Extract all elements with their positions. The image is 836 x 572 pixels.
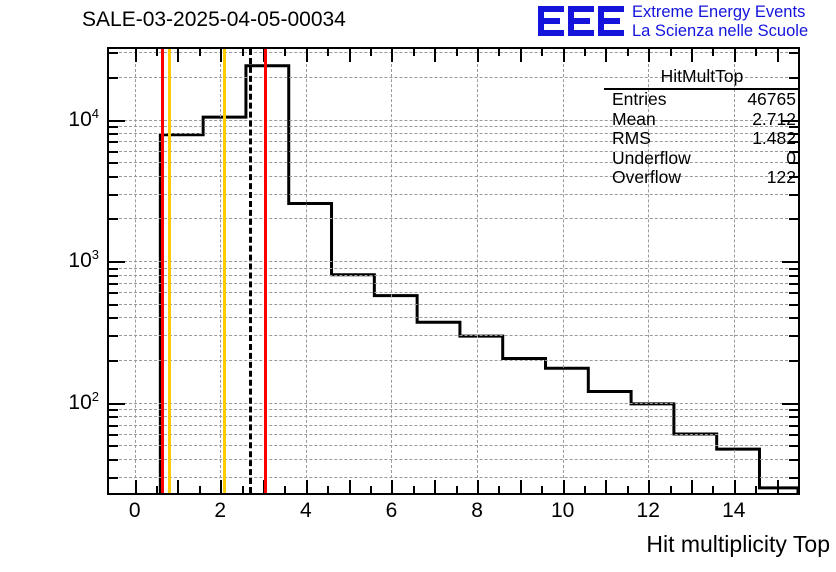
stats-row: Overflow122 — [604, 168, 800, 188]
x-tick-label: 12 — [637, 499, 660, 523]
axis-tick — [789, 416, 798, 418]
axis-tick — [109, 141, 118, 143]
axis-tick — [789, 52, 798, 54]
axis-tick — [156, 49, 158, 56]
gridline-horizontal — [109, 194, 798, 195]
gridline-vertical — [135, 49, 136, 493]
axis-tick — [135, 49, 137, 62]
axis-tick — [109, 162, 118, 164]
axis-tick — [109, 77, 118, 79]
axis-tick — [789, 218, 798, 220]
stats-key: Entries — [612, 90, 666, 110]
axis-tick — [789, 268, 798, 270]
axis-tick — [648, 480, 650, 493]
stats-row: Underflow0 — [604, 149, 800, 169]
axis-tick — [789, 292, 798, 294]
axis-tick — [456, 49, 458, 56]
x-axis-title: Hit multiplicity Top — [646, 531, 830, 558]
axis-tick — [782, 403, 798, 405]
gridline-vertical — [477, 49, 478, 493]
axis-tick — [199, 49, 201, 56]
axis-tick — [789, 194, 798, 196]
axis-tick — [177, 49, 179, 62]
stats-value: 0 — [786, 149, 796, 169]
axis-tick — [199, 486, 201, 493]
gridline-horizontal — [109, 317, 798, 318]
axis-tick — [391, 49, 393, 62]
orange-marker-right — [223, 49, 226, 493]
axis-tick — [789, 477, 798, 479]
axis-tick — [712, 49, 714, 56]
axis-tick — [109, 52, 118, 54]
axis-tick — [306, 49, 308, 62]
axis-tick — [109, 335, 118, 337]
axis-tick — [327, 486, 329, 493]
axis-tick — [109, 304, 118, 306]
gridline-horizontal — [109, 283, 798, 284]
axis-tick — [434, 480, 436, 493]
axis-tick — [520, 49, 522, 62]
axis-tick — [109, 445, 118, 447]
axis-tick — [755, 49, 757, 56]
axis-tick — [109, 218, 118, 220]
axis-tick — [284, 486, 286, 493]
axis-tick — [109, 268, 118, 270]
gridline-horizontal — [109, 434, 798, 435]
axis-tick — [284, 49, 286, 56]
gridline-horizontal — [109, 403, 798, 404]
x-tick-label: 0 — [129, 499, 141, 523]
axis-tick — [109, 409, 118, 411]
x-tick-label: 10 — [551, 499, 574, 523]
axis-tick — [327, 49, 329, 56]
axis-tick — [712, 486, 714, 493]
axis-tick — [520, 480, 522, 493]
axis-tick — [477, 480, 479, 493]
gridline-horizontal — [109, 409, 798, 410]
gridline-horizontal — [109, 477, 798, 478]
axis-tick — [789, 360, 798, 362]
y-tick-label: 103 — [68, 247, 99, 273]
axis-tick — [777, 49, 779, 62]
gridline-vertical — [306, 49, 307, 493]
stats-title: HitMultTop — [604, 66, 800, 90]
axis-tick — [109, 133, 118, 135]
axis-tick — [541, 49, 543, 56]
axis-tick — [477, 49, 479, 62]
axis-tick — [498, 49, 500, 56]
axis-tick — [789, 275, 798, 277]
stats-value: 122 — [767, 168, 796, 188]
axis-tick — [605, 480, 607, 493]
page-title: SALE-03-2025-04-05-00034 — [82, 8, 346, 32]
axis-tick — [109, 194, 118, 196]
red-marker-right — [264, 49, 267, 493]
gridline-horizontal — [109, 304, 798, 305]
axis-tick — [584, 49, 586, 56]
axis-tick — [734, 49, 736, 62]
axis-tick — [349, 480, 351, 493]
axis-tick — [584, 486, 586, 493]
gridline-vertical — [391, 49, 392, 493]
orange-marker-left — [168, 49, 171, 493]
gridline-horizontal — [109, 275, 798, 276]
gridline-horizontal — [109, 52, 798, 53]
axis-tick — [242, 486, 244, 493]
axis-tick — [109, 434, 118, 436]
axis-tick — [563, 49, 565, 62]
gridline-horizontal — [109, 445, 798, 446]
axis-tick — [109, 151, 118, 153]
red-marker-left — [161, 49, 164, 493]
axis-tick — [349, 49, 351, 62]
axis-tick — [413, 49, 415, 56]
axis-tick — [370, 486, 372, 493]
stats-key: RMS — [612, 129, 651, 149]
axis-tick — [306, 480, 308, 493]
axis-tick — [109, 261, 125, 263]
axis-tick — [734, 480, 736, 493]
y-tick-label: 104 — [68, 106, 99, 132]
axis-tick — [109, 176, 118, 178]
x-tick-label: 8 — [471, 499, 483, 523]
x-tick-label: 2 — [214, 499, 226, 523]
axis-tick — [563, 480, 565, 493]
gridline-vertical — [220, 49, 221, 493]
stats-row: RMS1.482 — [604, 129, 800, 149]
axis-tick — [670, 486, 672, 493]
axis-tick — [691, 49, 693, 62]
axis-tick — [109, 416, 118, 418]
stats-box: HitMultTop Entries46765Mean2.712RMS1.482… — [604, 66, 800, 188]
axis-tick — [109, 275, 118, 277]
axis-tick — [789, 459, 798, 461]
axis-tick — [782, 261, 798, 263]
axis-tick — [242, 49, 244, 56]
gridline-horizontal — [109, 268, 798, 269]
axis-tick — [789, 409, 798, 411]
axis-tick — [789, 425, 798, 427]
stats-row: Entries46765 — [604, 90, 800, 110]
stats-value: 2.712 — [752, 110, 796, 130]
axis-tick — [627, 49, 629, 56]
x-tick-label: 14 — [722, 499, 745, 523]
gridline-horizontal — [109, 261, 798, 262]
axis-tick — [789, 304, 798, 306]
axis-tick — [789, 283, 798, 285]
axis-tick — [648, 49, 650, 62]
axis-tick — [370, 49, 372, 56]
axis-tick — [109, 459, 118, 461]
axis-tick — [627, 486, 629, 493]
stats-value: 46765 — [747, 90, 796, 110]
stats-value: 1.482 — [752, 129, 796, 149]
axis-tick — [691, 480, 693, 493]
axis-tick — [109, 292, 118, 294]
axis-tick — [177, 480, 179, 493]
axis-tick — [789, 434, 798, 436]
axis-tick — [777, 480, 779, 493]
axis-tick — [456, 486, 458, 493]
axis-tick — [135, 480, 137, 493]
mean-marker — [249, 49, 252, 493]
gridline-horizontal — [109, 416, 798, 417]
axis-tick — [109, 403, 125, 405]
axis-tick — [789, 335, 798, 337]
eee-logo: Extreme Energy Events La Scienza nelle S… — [536, 2, 836, 44]
axis-tick — [498, 486, 500, 493]
axis-tick — [156, 486, 158, 493]
gridline-horizontal — [109, 335, 798, 336]
x-tick-label: 4 — [300, 499, 312, 523]
axis-tick — [605, 49, 607, 62]
axis-tick — [109, 283, 118, 285]
gridline-horizontal — [109, 459, 798, 460]
axis-tick — [789, 317, 798, 319]
axis-tick — [109, 360, 118, 362]
y-tick-label: 102 — [68, 389, 99, 415]
stats-key: Mean — [612, 110, 656, 130]
stats-row: Mean2.712 — [604, 110, 800, 130]
gridline-horizontal — [109, 425, 798, 426]
gridline-horizontal — [109, 292, 798, 293]
eee-logo-text: Extreme Energy Events La Scienza nelle S… — [632, 3, 808, 41]
axis-tick — [109, 120, 125, 122]
axis-tick — [789, 445, 798, 447]
histogram-canvas: SALE-03-2025-04-05-00034 Extreme Energy … — [0, 0, 836, 572]
axis-tick — [109, 425, 118, 427]
axis-tick — [391, 480, 393, 493]
stats-rows: Entries46765Mean2.712RMS1.482Underflow0O… — [604, 90, 800, 188]
stats-key: Overflow — [612, 168, 681, 188]
eee-logo-icon — [536, 2, 628, 42]
axis-tick — [109, 477, 118, 479]
eee-logo-line1: Extreme Energy Events — [632, 3, 808, 22]
axis-tick — [670, 49, 672, 56]
axis-tick — [434, 49, 436, 62]
axis-tick — [413, 486, 415, 493]
axis-tick — [541, 486, 543, 493]
x-tick-label: 6 — [386, 499, 398, 523]
gridline-horizontal — [109, 360, 798, 361]
eee-logo-line2: La Scienza nelle Scuole — [632, 22, 808, 41]
axis-tick — [109, 317, 118, 319]
axis-tick — [109, 126, 118, 128]
gridline-vertical — [563, 49, 564, 493]
stats-key: Underflow — [612, 149, 691, 169]
axis-tick — [755, 486, 757, 493]
gridline-horizontal — [109, 218, 798, 219]
